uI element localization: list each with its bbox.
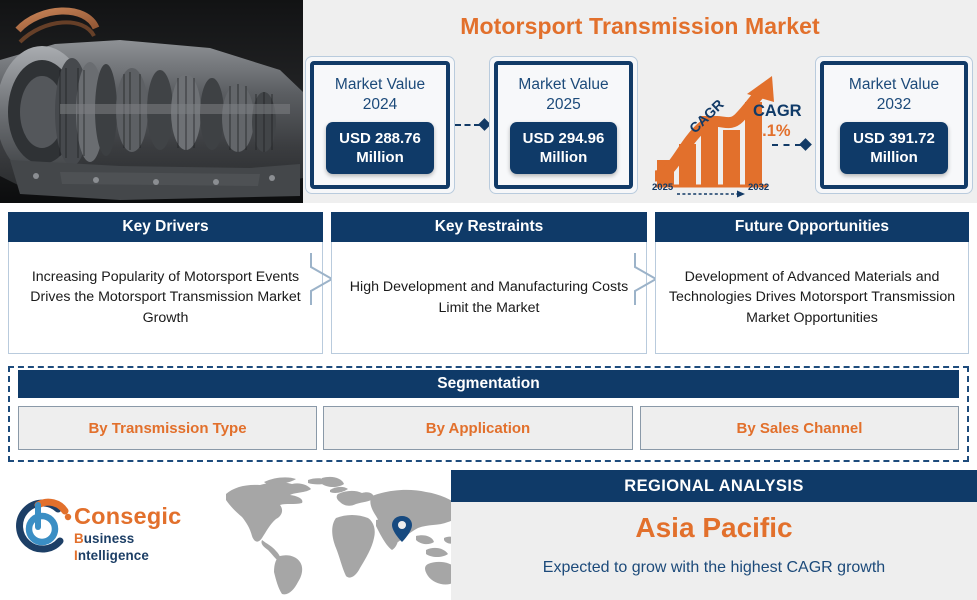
panel-key-drivers: Key Drivers Increasing Popularity of Mot… — [8, 212, 323, 354]
consegic-logo[interactable]: Consegic Business Intelligence — [12, 497, 212, 559]
market-value-card-2032: Market Value 2032 USD 391.72 Million — [815, 56, 973, 194]
panel-body: Increasing Popularity of Motorsport Even… — [8, 242, 323, 354]
panel-heading: Key Restraints — [331, 212, 647, 242]
market-value-year: 2032 — [877, 96, 911, 113]
cagr-label: CAGR — [753, 102, 815, 121]
logo-tagline-usiness: usiness — [84, 531, 135, 546]
panel-key-restraints: Key Restraints High Development and Manu… — [331, 212, 647, 354]
market-value-pill: USD 288.76 Million — [326, 122, 434, 174]
cagr-year-end: 2032 — [748, 182, 769, 193]
market-value-card-2024: Market Value 2024 USD 288.76 Million — [305, 56, 455, 194]
segmentation-item-application[interactable]: By Application — [323, 406, 633, 450]
cagr-year-start: 2025 — [652, 182, 673, 193]
infographic-root: Motorsport Transmission Market Market Va… — [0, 0, 977, 600]
market-value-unit: Million — [356, 149, 404, 166]
regional-analysis-subtitle: Expected to grow with the highest CAGR g… — [451, 559, 977, 577]
market-value-label: Market Value — [518, 76, 608, 93]
market-value-amount: USD 391.72 — [853, 130, 935, 147]
connector-cagr-to-2032 — [772, 139, 810, 151]
market-value-unit: Million — [540, 149, 588, 166]
page-title: Motorsport Transmission Market — [303, 8, 977, 44]
segmentation-item-sales-channel[interactable]: By Sales Channel — [640, 406, 959, 450]
market-value-label: Market Value — [335, 76, 425, 93]
panel-body-text: Increasing Popularity of Motorsport Even… — [19, 267, 312, 329]
logo-name: Consegic — [74, 503, 212, 530]
cagr-readout: CAGR 4.1% — [753, 102, 815, 142]
panel-future-opportunities: Future Opportunities Development of Adva… — [655, 212, 969, 354]
hero-transmission-photo — [0, 0, 303, 203]
panel-body: Development of Advanced Materials and Te… — [655, 242, 969, 354]
market-value-label: Market Value — [849, 76, 939, 93]
regional-analysis-heading: REGIONAL ANALYSIS — [451, 470, 977, 502]
segmentation-heading: Segmentation — [18, 370, 959, 398]
logo-tagline: Business Intelligence — [74, 530, 212, 564]
panel-body-text: Development of Advanced Materials and Te… — [666, 267, 958, 329]
diamond-icon — [799, 138, 812, 151]
panel-body: High Development and Manufacturing Costs… — [331, 242, 647, 354]
world-map — [212, 472, 464, 596]
market-value-year: 2024 — [363, 96, 397, 113]
market-value-amount: USD 294.96 — [523, 130, 605, 147]
market-value-amount: USD 288.76 — [339, 130, 421, 147]
logo-tagline-ntelligence: ntelligence — [78, 548, 149, 563]
panel-body-text: High Development and Manufacturing Costs… — [342, 277, 636, 318]
connector-2024-to-2025 — [455, 119, 489, 131]
panel-heading: Future Opportunities — [655, 212, 969, 242]
regional-analysis-region: Asia Pacific — [451, 512, 977, 544]
panel-heading: Key Drivers — [8, 212, 323, 242]
market-value-unit: Million — [870, 149, 918, 166]
cagr-growth-chart: CAGR 2025 2032 CAGR 4.1% — [655, 72, 815, 198]
market-value-card-2025: Market Value 2025 USD 294.96 Million — [489, 56, 638, 194]
market-value-year: 2025 — [546, 96, 580, 113]
logo-tagline-b: B — [74, 531, 84, 546]
market-value-pill: USD 391.72 Million — [840, 122, 948, 174]
logo-text: Consegic Business Intelligence — [74, 503, 212, 564]
segmentation-item-transmission-type[interactable]: By Transmission Type — [18, 406, 317, 450]
market-value-pill: USD 294.96 Million — [510, 122, 618, 174]
